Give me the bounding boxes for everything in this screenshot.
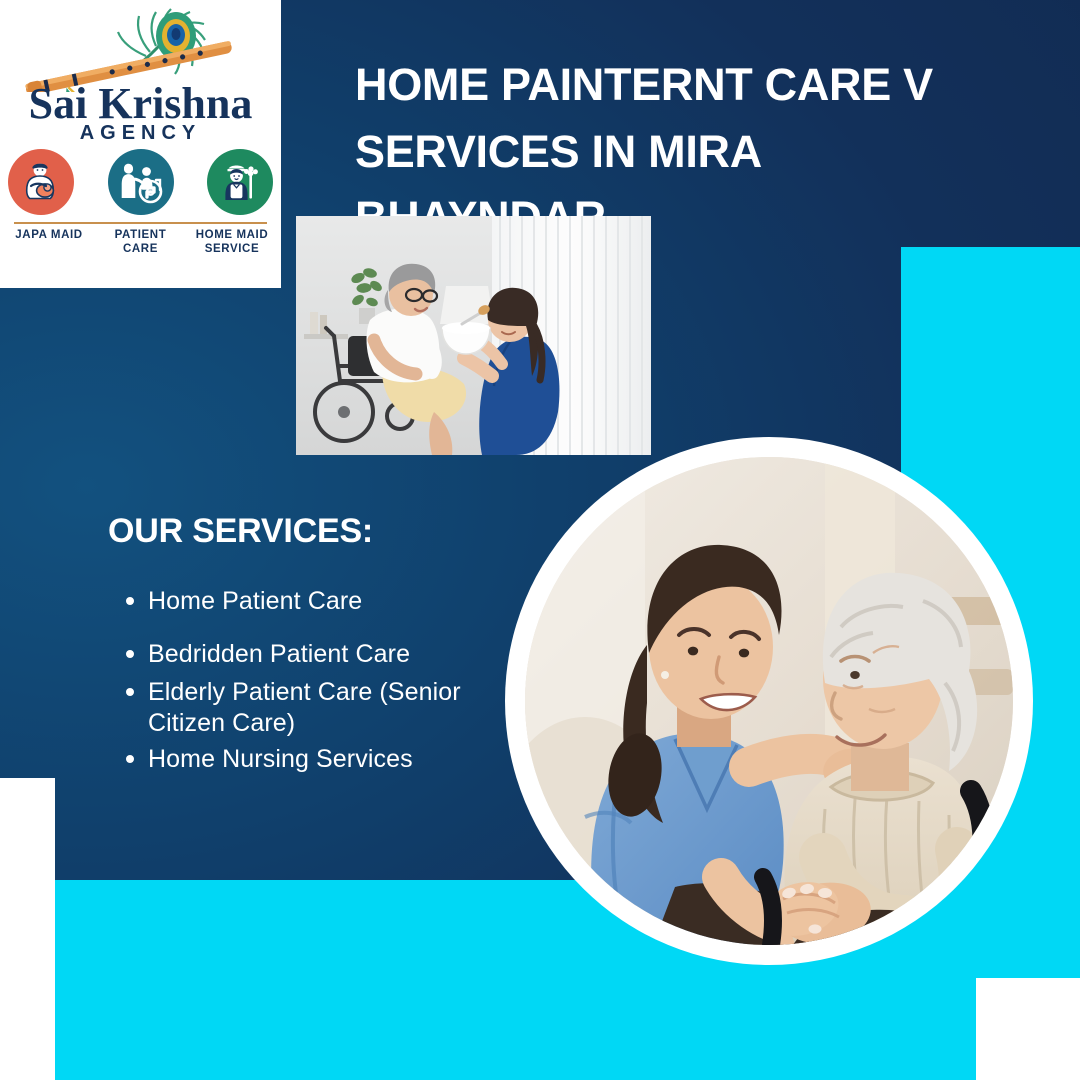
service-label: Bedridden Patient Care (148, 640, 410, 668)
white-notch-bottom-right (976, 978, 1080, 1080)
badge-home-maid-service (207, 149, 273, 215)
badge-label-patient-care: PATIENT CARE (98, 228, 184, 256)
service-label: Elderly Patient Care (Senior Citizen Car… (148, 678, 461, 737)
service-label: Home Patient Care (148, 587, 362, 615)
bullet-icon (126, 597, 134, 605)
photo-circle-frame (505, 437, 1033, 965)
badge-label-japa-maid: JAPA MAID (6, 228, 92, 242)
badge-patient-care (108, 149, 174, 215)
badge-label-home-maid-service: HOME MAID SERVICE (189, 228, 275, 256)
logo-agency-text: AGENCY (0, 122, 281, 145)
services-list: Home Patient Care Bedridden Patient Care… (112, 586, 512, 775)
bullet-icon (126, 755, 134, 763)
service-label: Home Nursing Services (148, 745, 413, 773)
bullet-icon (126, 688, 134, 696)
list-item: Bedridden Patient Care (112, 639, 512, 670)
poster-canvas: Sai Krishna AGENCY (0, 0, 1080, 1080)
photo-nurse-feeding-elderly (296, 216, 651, 455)
photo-nurse-feeding-elderly-art (296, 216, 651, 455)
badge-japa-maid (8, 149, 74, 215)
logo-badge-labels: JAPA MAID PATIENT CARE HOME MAID SERVICE (6, 228, 275, 284)
brand-logo-card: Sai Krishna AGENCY (0, 0, 281, 288)
services-heading: OUR SERVICES: (108, 512, 373, 551)
white-notch-bottom-left (0, 778, 55, 1080)
wheelchair-care-icon (116, 158, 166, 206)
maid-icon (216, 158, 264, 206)
photo-nurse-with-elderly-woman (525, 457, 1013, 945)
logo-wordmark: Sai Krishna (0, 82, 281, 126)
photo-nurse-with-elderly-woman-art (525, 457, 1013, 945)
list-item: Home Patient Care (112, 586, 512, 617)
logo-inner: Sai Krishna AGENCY (0, 0, 281, 288)
mother-baby-icon (17, 158, 65, 206)
bullet-icon (126, 650, 134, 658)
list-item: Elderly Patient Care (Senior Citizen Car… (112, 677, 512, 738)
logo-divider-rule (14, 222, 267, 224)
list-item: Home Nursing Services (112, 744, 512, 775)
logo-badge-row (8, 146, 273, 218)
